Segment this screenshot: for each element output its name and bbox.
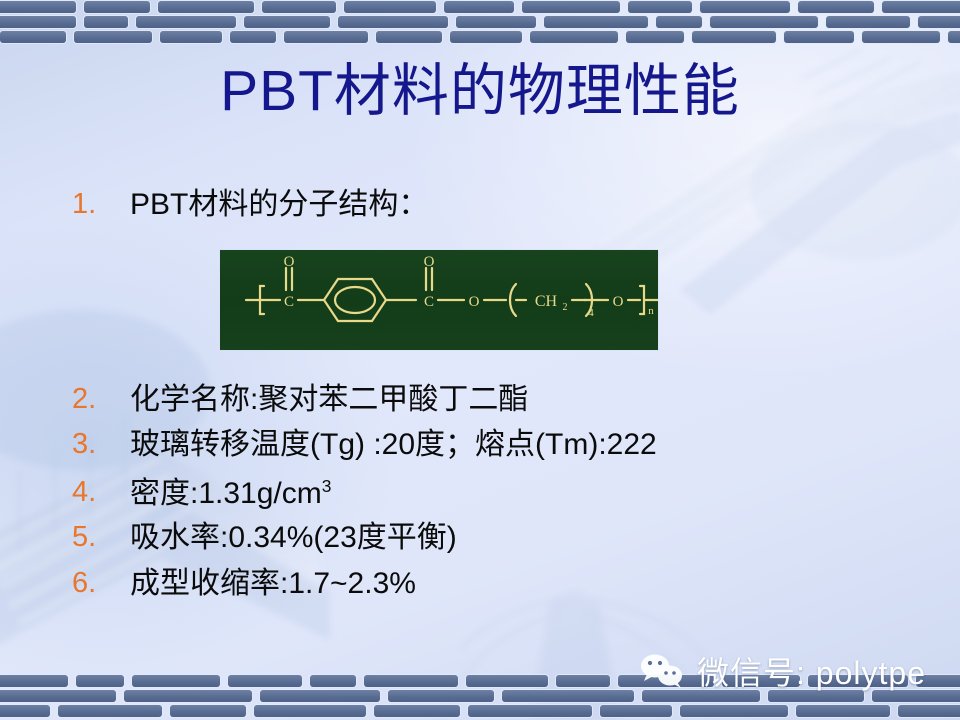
carbon-right-label: C [424, 294, 434, 310]
list-item-text: 化学名称:聚对苯二甲酸丁二酯 [130, 385, 528, 415]
footer-watermark: 微信号: polytpe [639, 648, 926, 694]
carbon-left-label: C [284, 294, 294, 310]
ester-oxygen-right-label: O [613, 294, 624, 310]
list-item: 3. 玻璃转移温度(Tg) :20度；熔点(Tm):222 [72, 430, 657, 460]
methylene-label: CH [535, 293, 558, 310]
repeat-index-subscript: n [648, 305, 654, 317]
brick-row [0, 704, 960, 719]
list-item-number: 2. [72, 385, 130, 414]
list-item-text: 密度:1.31g/cm3 [130, 478, 331, 509]
carbonyl-oxygen-left-label: O [284, 254, 295, 270]
wechat-icon [639, 652, 685, 690]
list-item-text: 成型收缩率:1.7~2.3% [130, 569, 416, 599]
density-unit-exponent: 3 [322, 476, 332, 496]
methylene-subscript: 2 [563, 302, 568, 313]
pbt-repeat-unit-svg: O C O C O O CH 2 4 n [220, 250, 658, 350]
ester-oxygen-left-label: O [469, 294, 480, 310]
brick-row [0, 15, 960, 30]
list-item-number: 4. [72, 478, 130, 507]
list-item: 5. 吸水率:0.34%(23度平衡) [72, 523, 457, 553]
density-value: 密度:1.31g/cm [130, 477, 322, 510]
brick-row [0, 0, 960, 15]
list-item-text: 玻璃转移温度(Tg) :20度；熔点(Tm):222 [130, 430, 657, 460]
list-item-number: 3. [72, 430, 130, 459]
list-item-text: 吸水率:0.34%(23度平衡) [130, 523, 457, 553]
list-item-number: 6. [72, 569, 130, 598]
list-item-text: PBT材料的分子结构： [130, 190, 428, 220]
presentation-slide: PBT材料的物理性能 1. PBT材料的分子结构： 2. 化学名称:聚对苯二甲酸… [0, 0, 960, 720]
list-item: 2. 化学名称:聚对苯二甲酸丁二酯 [72, 385, 528, 415]
brick-row [0, 30, 960, 45]
list-item: 4. 密度:1.31g/cm3 [72, 478, 331, 509]
methylene-count-subscript: 4 [588, 307, 594, 319]
list-item: 1. PBT材料的分子结构： [72, 190, 428, 220]
top-brick-border [0, 0, 960, 46]
footer-watermark-text: 微信号: polytpe [697, 648, 926, 694]
slide-title: PBT材料的物理性能 [0, 62, 960, 122]
list-item-number: 1. [72, 190, 130, 219]
chemical-structure-figure: O C O C O O CH 2 4 n [220, 250, 658, 350]
list-item: 6. 成型收缩率:1.7~2.3% [72, 569, 416, 599]
carbonyl-oxygen-right-label: O [424, 254, 435, 270]
list-item-number: 5. [72, 523, 130, 552]
